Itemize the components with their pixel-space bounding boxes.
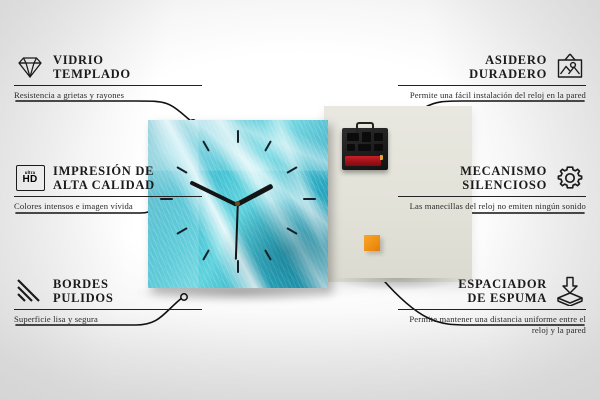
feature-description: Permite mantener una distancia uniforme …	[398, 314, 586, 335]
divider	[398, 309, 586, 310]
polished-edges-icon	[14, 276, 46, 306]
feature-description: Las manecillas del reloj no emiten ningú…	[398, 201, 586, 212]
clock-hour-hand	[236, 183, 273, 206]
clock-tick	[286, 227, 297, 235]
gear-icon	[554, 163, 586, 193]
foam-spacer-pad	[364, 235, 380, 251]
mechanism-detail	[347, 133, 359, 141]
feature-title: VIDRIOTEMPLADO	[53, 53, 202, 81]
clock-tick	[264, 140, 272, 151]
divider	[14, 85, 202, 86]
clock-tick	[202, 140, 210, 151]
infographic-canvas: VIDRIOTEMPLADO Resistencia a grietas y r…	[0, 0, 600, 400]
battery-terminal	[380, 155, 383, 160]
feature-espaciador-de-espuma: ESPACIADORDE ESPUMA Permite mantener una…	[398, 276, 586, 335]
clock-tick	[237, 130, 239, 143]
clock-tick	[286, 166, 297, 174]
feature-title: ESPACIADORDE ESPUMA	[398, 277, 547, 305]
mechanism-detail	[374, 133, 383, 141]
clock-tick	[303, 198, 316, 200]
feature-mecanismo-silencioso: MECANISMOSILENCIOSO Las manecillas del r…	[398, 163, 586, 212]
feature-description: Colores intensos e imagen vívida	[14, 201, 202, 212]
feature-vidrio-templado: VIDRIOTEMPLADO Resistencia a grietas y r…	[14, 52, 202, 101]
clock-center-hub	[235, 201, 240, 206]
feature-description: Resistencia a grietas y rayones	[14, 90, 202, 101]
feature-description: Permite una fácil instalación del reloj …	[398, 90, 586, 101]
clock-second-hand	[235, 204, 239, 260]
clock-tick	[264, 249, 272, 260]
clock-tick	[237, 260, 239, 273]
diamond-icon	[14, 52, 46, 82]
divider	[398, 196, 586, 197]
feature-asidero-duradero: ASIDERODURADERO Permite una fácil instal…	[398, 52, 586, 101]
clock-tick	[176, 227, 187, 235]
mechanism-detail	[362, 132, 371, 142]
feature-title: ASIDERODURADERO	[398, 53, 547, 81]
mechanism-detail	[358, 144, 371, 151]
divider	[14, 309, 202, 310]
mechanism-detail	[374, 144, 383, 151]
feature-bordes-pulidos: BORDESPULIDOS Superficie lisa y segura	[14, 276, 202, 325]
battery-icon	[345, 156, 381, 166]
divider	[14, 196, 202, 197]
ultra-hd-icon-large-label: HD	[22, 175, 37, 185]
feature-title: IMPRESIÓN DEALTA CALIDAD	[53, 164, 202, 192]
mechanism-detail	[347, 144, 355, 151]
clock-movement-icon	[342, 128, 388, 170]
hanging-picture-frame-icon	[554, 52, 586, 82]
ultra-hd-icon: ultra HD	[14, 163, 46, 193]
feature-impresion-alta-calidad: ultra HD IMPRESIÓN DEALTA CALIDAD Colore…	[14, 163, 202, 212]
clock-tick	[202, 249, 210, 260]
foam-spacer-arrow-icon	[554, 276, 586, 306]
feature-description: Superficie lisa y segura	[14, 314, 202, 325]
feature-title: BORDESPULIDOS	[53, 277, 202, 305]
divider	[398, 85, 586, 86]
feature-title: MECANISMOSILENCIOSO	[398, 164, 547, 192]
